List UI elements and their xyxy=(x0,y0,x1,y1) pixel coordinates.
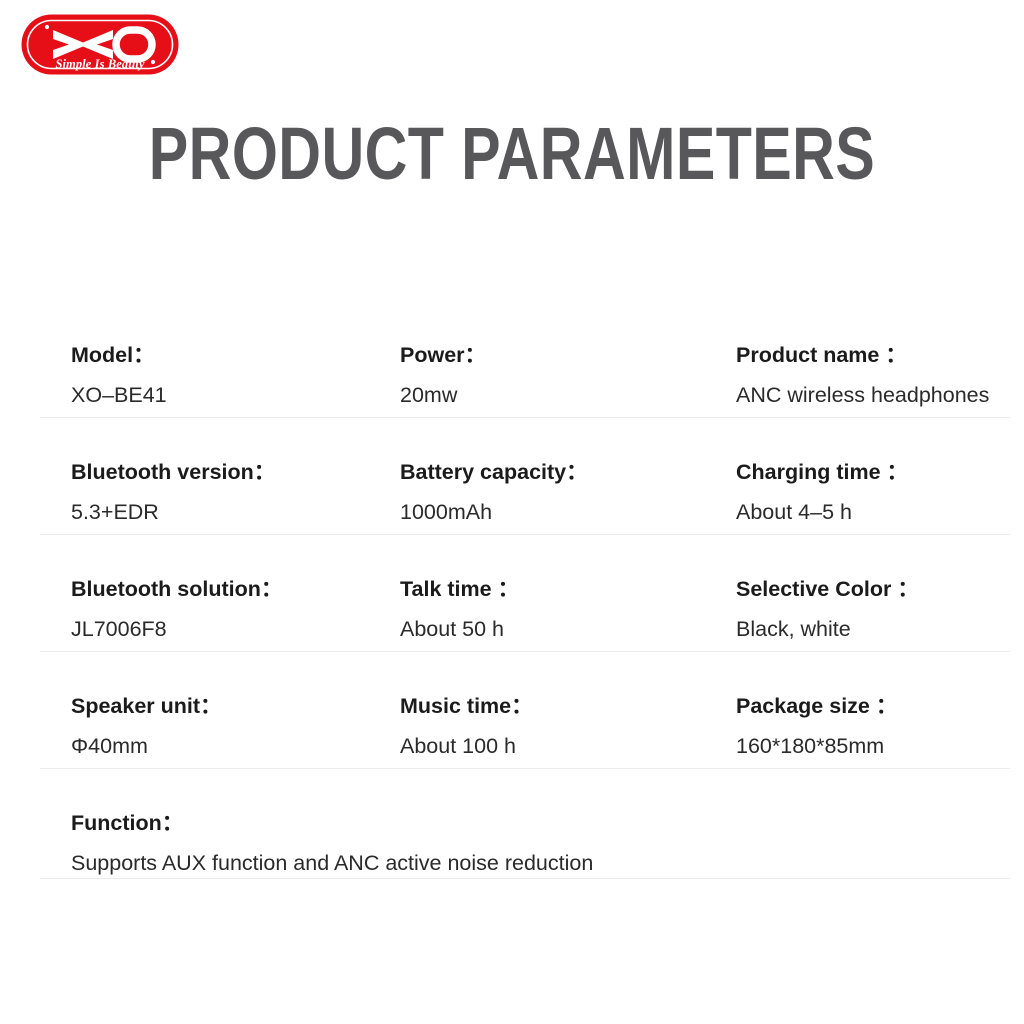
spec-cell-function: Function： Supports AUX function and ANC … xyxy=(71,810,1001,876)
spec-label: Bluetooth solution： xyxy=(71,576,282,602)
spec-label: Package size ： xyxy=(736,693,897,719)
spec-cell-model: Model： XO–BE41 xyxy=(71,342,167,408)
table-row: Bluetooth solution： JL7006F8 Talk time ：… xyxy=(40,535,1010,652)
xo-brand-logo: Simple Is Beauty xyxy=(20,13,180,76)
spec-value: ANC wireless headphones xyxy=(736,382,989,408)
spec-label: Music time： xyxy=(400,693,533,719)
spec-value: XO–BE41 xyxy=(71,382,167,408)
spec-value: About 50 h xyxy=(400,616,519,642)
spec-value: 1000mAh xyxy=(400,499,588,525)
spec-cell-battery-capacity: Battery capacity： 1000mAh xyxy=(400,459,588,525)
spec-label: Bluetooth version： xyxy=(71,459,275,485)
spec-label: Power： xyxy=(400,342,486,368)
spec-cell-bluetooth-solution: Bluetooth solution： JL7006F8 xyxy=(71,576,282,642)
spec-cell-power: Power： 20mw xyxy=(400,342,486,408)
spec-cell-bluetooth-version: Bluetooth version： 5.3+EDR xyxy=(71,459,275,525)
spec-value: Supports AUX function and ANC active noi… xyxy=(71,850,1001,876)
spec-value: JL7006F8 xyxy=(71,616,282,642)
spec-label: Model： xyxy=(71,342,167,368)
spec-label: Charging time ： xyxy=(736,459,908,485)
spec-label: Battery capacity： xyxy=(400,459,588,485)
spec-cell-music-time: Music time： About 100 h xyxy=(400,693,533,759)
spec-value: About 100 h xyxy=(400,733,533,759)
table-row: Speaker unit： Φ40mm Music time： About 10… xyxy=(40,652,1010,769)
table-row: Model： XO–BE41 Power： 20mw Product name … xyxy=(40,301,1010,418)
spec-cell-charging-time: Charging time ： About 4–5 h xyxy=(736,459,908,525)
spec-value: Φ40mm xyxy=(71,733,222,759)
spec-cell-speaker-unit: Speaker unit： Φ40mm xyxy=(71,693,222,759)
page-title: PRODUCT PARAMETERS xyxy=(102,114,921,194)
spec-label: Selective Color ： xyxy=(736,576,919,602)
spec-cell-package-size: Package size ： 160*180*85mm xyxy=(736,693,897,759)
spec-cell-selective-color: Selective Color ： Black, white xyxy=(736,576,919,642)
spec-label: Function： xyxy=(71,810,1001,836)
table-row: Bluetooth version： 5.3+EDR Battery capac… xyxy=(40,418,1010,535)
spec-value: 160*180*85mm xyxy=(736,733,897,759)
product-parameters-table: Model： XO–BE41 Power： 20mw Product name … xyxy=(40,301,1010,879)
logo-tagline-text: Simple Is Beauty xyxy=(55,57,144,71)
spec-label: Product name ： xyxy=(736,342,989,368)
spec-value: 20mw xyxy=(400,382,486,408)
spec-cell-talk-time: Talk time ： About 50 h xyxy=(400,576,519,642)
spec-label: Speaker unit： xyxy=(71,693,222,719)
spec-label: Talk time ： xyxy=(400,576,519,602)
table-row-function: Function： Supports AUX function and ANC … xyxy=(40,769,1010,879)
spec-value: About 4–5 h xyxy=(736,499,908,525)
spec-cell-product-name: Product name ： ANC wireless headphones xyxy=(736,342,989,408)
spec-value: Black, white xyxy=(736,616,919,642)
spec-value: 5.3+EDR xyxy=(71,499,275,525)
xo-logo-icon: Simple Is Beauty xyxy=(20,13,180,76)
